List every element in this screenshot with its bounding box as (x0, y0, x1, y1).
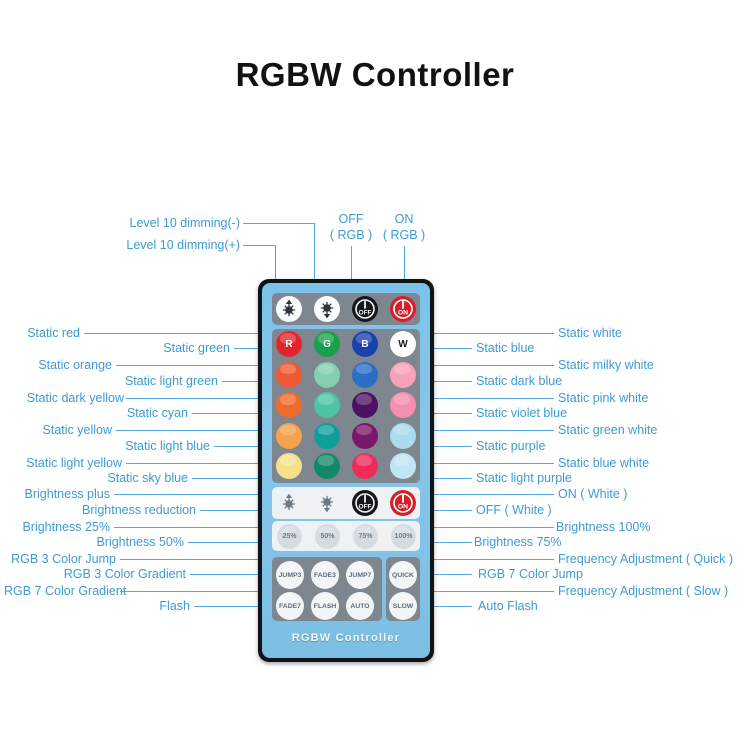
percent-button-brightness-75[interactable]: 75% (353, 524, 378, 549)
color-button-static-light-yellow[interactable] (276, 453, 302, 479)
brightness-reduction-button[interactable] (314, 490, 340, 516)
mode-button-auto[interactable]: AUTO (346, 592, 374, 620)
callout-brightness-50: Brightness 50% (20, 535, 184, 549)
button-gloss (318, 394, 334, 405)
callout-brightness-25: Brightness 25% (16, 520, 110, 534)
callout-static-sky-blue: Static sky blue (20, 471, 188, 485)
callout-off-rgb-line2: ( RGB ) (325, 228, 377, 242)
mode-button-label: JUMP7 (349, 572, 372, 579)
leader-line (420, 463, 554, 464)
callout-on-white: ON ( White ) (558, 487, 627, 501)
color-button-static-orange[interactable] (276, 362, 302, 388)
dim-down-button[interactable] (314, 296, 340, 322)
color-button-static-purple[interactable] (352, 423, 378, 449)
callout-brightness-reduction: Brightness reduction (20, 503, 196, 517)
leader-line (114, 494, 280, 495)
callout-static-blue: Static blue (476, 341, 534, 355)
button-gloss (394, 364, 410, 375)
power-off-icon: OFF (352, 490, 378, 516)
button-gloss (318, 364, 334, 375)
button-gloss (280, 425, 296, 436)
off-white-button[interactable]: OFF (352, 490, 378, 516)
color-button-static-dark-yellow[interactable] (276, 392, 302, 418)
callout-brightness-100: Brightness 100% (556, 520, 651, 534)
white-power-keypad-panel: OFF ON (272, 487, 420, 519)
callout-static-light-blue: Static light blue (20, 439, 210, 453)
callout-rgb-3-color-jump: RGB 3 Color Jump (10, 552, 116, 566)
leader-line (84, 333, 280, 334)
color-button-label: W (398, 339, 407, 350)
color-button-label: G (323, 339, 331, 350)
button-gloss (356, 425, 372, 436)
speed-button-label: QUICK (392, 572, 414, 579)
speed-keypad-panel: QUICKSLOW (386, 557, 420, 621)
callout-level-10-dimming-plus: Level 10 dimming(+) (30, 238, 240, 252)
svg-text:OFF: OFF (359, 504, 372, 511)
color-button-static-white[interactable]: W (390, 331, 416, 357)
button-gloss (280, 455, 296, 466)
power-off-icon: OFF (352, 296, 378, 322)
color-button-static-green[interactable]: G (314, 331, 340, 357)
on-white-button[interactable]: ON (390, 490, 416, 516)
leader-line (420, 527, 554, 528)
button-gloss (280, 364, 296, 375)
percent-button-label: 50% (320, 533, 334, 540)
button-gloss (356, 455, 372, 466)
callout-off-rgb-line1: OFF (325, 212, 377, 226)
callout-static-cyan: Static cyan (20, 406, 188, 420)
leader-line (420, 365, 554, 366)
callout-off-white: OFF ( White ) (476, 503, 552, 517)
callout-static-orange: Static orange (20, 358, 112, 372)
callout-freq-slow: Frequency Adjustment ( Slow ) (558, 584, 728, 598)
rgbw-remote-control: OFF ON RGBW (258, 279, 434, 662)
color-button-static-sky-blue[interactable] (314, 453, 340, 479)
button-gloss (318, 455, 334, 466)
callout-static-dark-blue: Static dark blue (476, 374, 562, 388)
dim-up-button[interactable] (276, 296, 302, 322)
callout-static-blue-white: Static blue white (558, 456, 649, 470)
leader-line (120, 559, 280, 560)
svg-text:OFF: OFF (359, 310, 372, 317)
on-rgb-button[interactable]: ON (390, 296, 416, 322)
callout-static-milky-white: Static milky white (558, 358, 654, 372)
sun-minus-icon (314, 490, 340, 516)
callout-on-rgb-line1: ON (378, 212, 430, 226)
mode-button-jump7[interactable]: JUMP7 (346, 561, 374, 589)
page-root: RGBW Controller Level 10 dimming(-) Leve… (0, 0, 750, 750)
leader-line (116, 430, 280, 431)
power-on-icon: ON (390, 490, 416, 516)
mode-button-jump3[interactable]: JUMP3 (276, 561, 304, 589)
mode-button-label: JUMP3 (279, 572, 302, 579)
percent-button-label: 25% (282, 533, 296, 540)
button-gloss (356, 364, 372, 375)
callout-flash: Flash (20, 599, 190, 613)
percent-button-brightness-25[interactable]: 25% (277, 524, 302, 549)
callout-brightness-75: Brightness 75% (474, 535, 562, 549)
mode-button-label: FADE3 (314, 572, 336, 579)
brightness-percent-panel: 25%50%75%100% (272, 521, 420, 551)
percent-button-brightness-50[interactable]: 50% (315, 524, 340, 549)
power-on-icon: ON (390, 296, 416, 322)
leader-line (420, 398, 554, 399)
color-button-static-yellow[interactable] (276, 423, 302, 449)
color-button-label: B (361, 339, 368, 350)
callout-static-white: Static white (558, 326, 622, 340)
color-button-static-milky-white[interactable] (390, 362, 416, 388)
callout-rgb-3-color-gradient: RGB 3 Color Gradient (16, 567, 186, 581)
callout-on-rgb-line2: ( RGB ) (378, 228, 430, 242)
callout-static-light-purple: Static light purple (476, 471, 572, 485)
callout-rgb-7-color-gradient: RGB 7 Color Gradient (4, 584, 116, 598)
leader-line (114, 527, 280, 528)
leader-line (420, 333, 554, 334)
leader-line (126, 398, 280, 399)
remote-brand-text: RGBW Controller (262, 632, 430, 644)
leader-line (116, 365, 280, 366)
color-button-static-light-green[interactable] (314, 362, 340, 388)
remote-faceplate: OFF ON RGBW (262, 283, 430, 658)
callout-static-violet-blue: Static violet blue (476, 406, 567, 420)
color-button-static-blue[interactable]: B (352, 331, 378, 357)
percent-button-label: 100% (395, 533, 413, 540)
callout-static-purple: Static purple (476, 439, 545, 453)
leader-line (243, 223, 315, 224)
sun-up-icon (276, 296, 302, 322)
mode-keypad-panel: JUMP3FADE3JUMP7FADE7FLASHAUTO (272, 557, 382, 621)
callout-level-10-dimming-minus: Level 10 dimming(-) (30, 216, 240, 230)
mode-button-fade3[interactable]: FADE3 (311, 561, 339, 589)
color-button-static-violet-blue[interactable] (352, 392, 378, 418)
percent-button-brightness-100[interactable]: 100% (391, 524, 416, 549)
color-keypad-panel: RGBW (272, 329, 420, 483)
callout-rgb-7-color-jump: RGB 7 Color Jump (478, 567, 583, 581)
button-gloss (356, 394, 372, 405)
callout-static-pink-white: Static pink white (558, 391, 648, 405)
power-keypad-panel: OFF ON (272, 293, 420, 325)
callout-freq-quick: Frequency Adjustment ( Quick ) (558, 552, 733, 566)
mode-button-flash[interactable]: FLASH (311, 592, 339, 620)
mode-button-label: FLASH (314, 603, 337, 610)
button-gloss (394, 455, 410, 466)
leader-line (420, 494, 554, 495)
callout-static-yellow: Static yellow (20, 423, 112, 437)
mode-button-label: FADE7 (279, 603, 301, 610)
speed-button-label: SLOW (393, 603, 413, 610)
color-button-static-cyan[interactable] (314, 423, 340, 449)
leader-line (420, 591, 554, 592)
callout-static-light-green: Static light green (20, 374, 218, 388)
speed-button-quick[interactable]: QUICK (389, 561, 417, 589)
svg-text:ON: ON (398, 310, 408, 317)
leader-line (243, 245, 276, 246)
leader-line (120, 591, 280, 592)
leader-line (126, 463, 280, 464)
sun-down-icon (314, 296, 340, 322)
mode-button-label: AUTO (350, 603, 369, 610)
color-button-static-red[interactable]: R (276, 331, 302, 357)
color-button-label: R (285, 339, 292, 350)
button-gloss (394, 394, 410, 405)
page-title: RGBW Controller (0, 56, 750, 94)
callout-brightness-plus: Brightness plus (16, 487, 110, 501)
leader-line (420, 559, 554, 560)
color-button-static-light-purple[interactable] (352, 453, 378, 479)
color-button-static-cyan-top[interactable] (314, 392, 340, 418)
callout-static-dark-yellow: Static dark yellow (12, 391, 124, 405)
button-gloss (318, 425, 334, 436)
callout-static-light-yellow: Static light yellow (10, 456, 122, 470)
mode-button-fade7[interactable]: FADE7 (276, 592, 304, 620)
color-button-static-dark-blue[interactable] (352, 362, 378, 388)
button-gloss (394, 425, 410, 436)
callout-static-green: Static green (20, 341, 230, 355)
brightness-plus-button[interactable] (276, 490, 302, 516)
color-button-static-blue-white[interactable] (390, 453, 416, 479)
percent-button-label: 75% (358, 533, 372, 540)
color-button-static-pink-white[interactable] (390, 392, 416, 418)
svg-text:ON: ON (398, 504, 408, 511)
speed-button-slow[interactable]: SLOW (389, 592, 417, 620)
callout-static-green-white: Static green white (558, 423, 657, 437)
sun-plus-icon (276, 490, 302, 516)
leader-line (420, 430, 554, 431)
callout-static-red: Static red (20, 326, 80, 340)
callout-auto-flash: Auto Flash (478, 599, 538, 613)
button-gloss (280, 394, 296, 405)
color-button-static-green-white[interactable] (390, 423, 416, 449)
off-rgb-button[interactable]: OFF (352, 296, 378, 322)
